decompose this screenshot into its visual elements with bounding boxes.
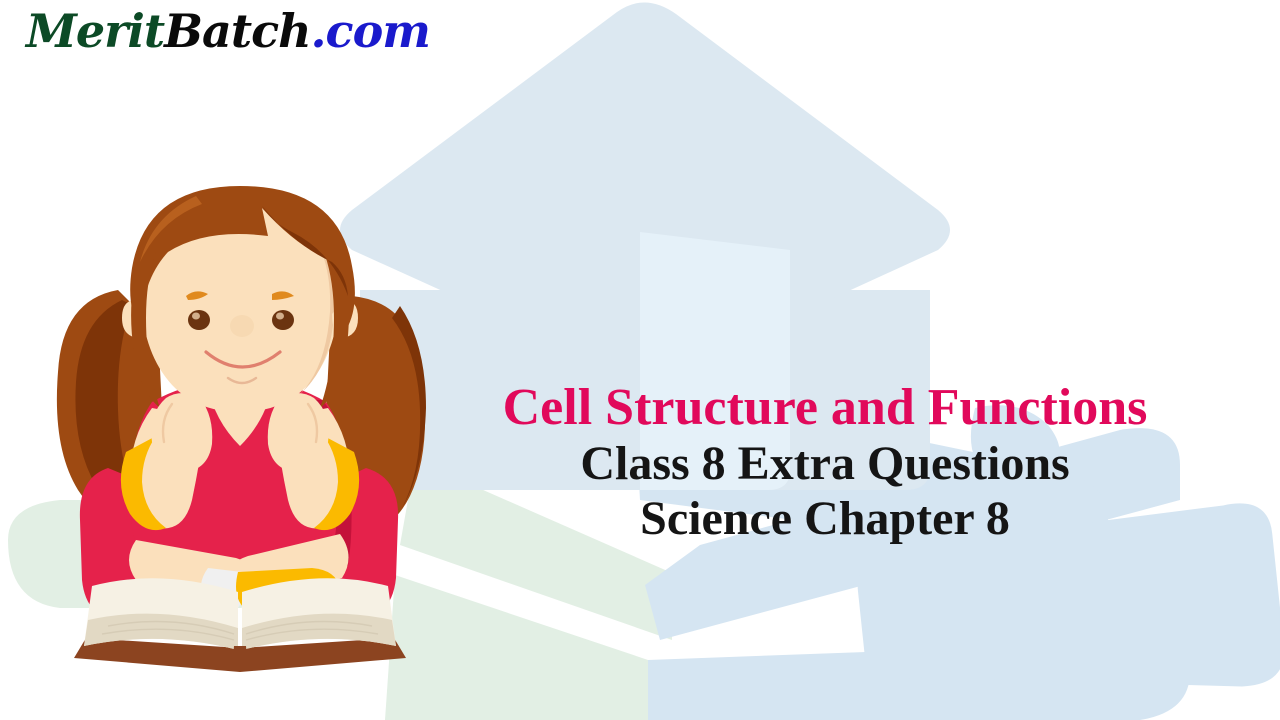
eye-left-glint [192,313,200,320]
girl-reading-illustration [0,0,1280,720]
logo-part-com: .com [311,4,430,58]
logo-part-batch: Batch [164,4,310,58]
nose [230,315,254,337]
hand-right [268,393,329,472]
eye-right-glint [276,313,284,320]
page-subtitle-1: Class 8 Extra Questions [430,439,1220,490]
book-spine [232,646,248,668]
site-logo[interactable]: MeritBatch.com [26,8,430,54]
hand-left [151,393,212,472]
eye-right [272,310,294,330]
eye-left [188,310,210,330]
logo-part-merit: Merit [26,4,164,58]
poster-canvas: MeritBatch.com Cell Structure and Functi… [0,0,1280,720]
page-title: Cell Structure and Functions [430,380,1220,435]
title-block: Cell Structure and Functions Class 8 Ext… [430,380,1220,545]
page-subtitle-2: Science Chapter 8 [430,494,1220,545]
